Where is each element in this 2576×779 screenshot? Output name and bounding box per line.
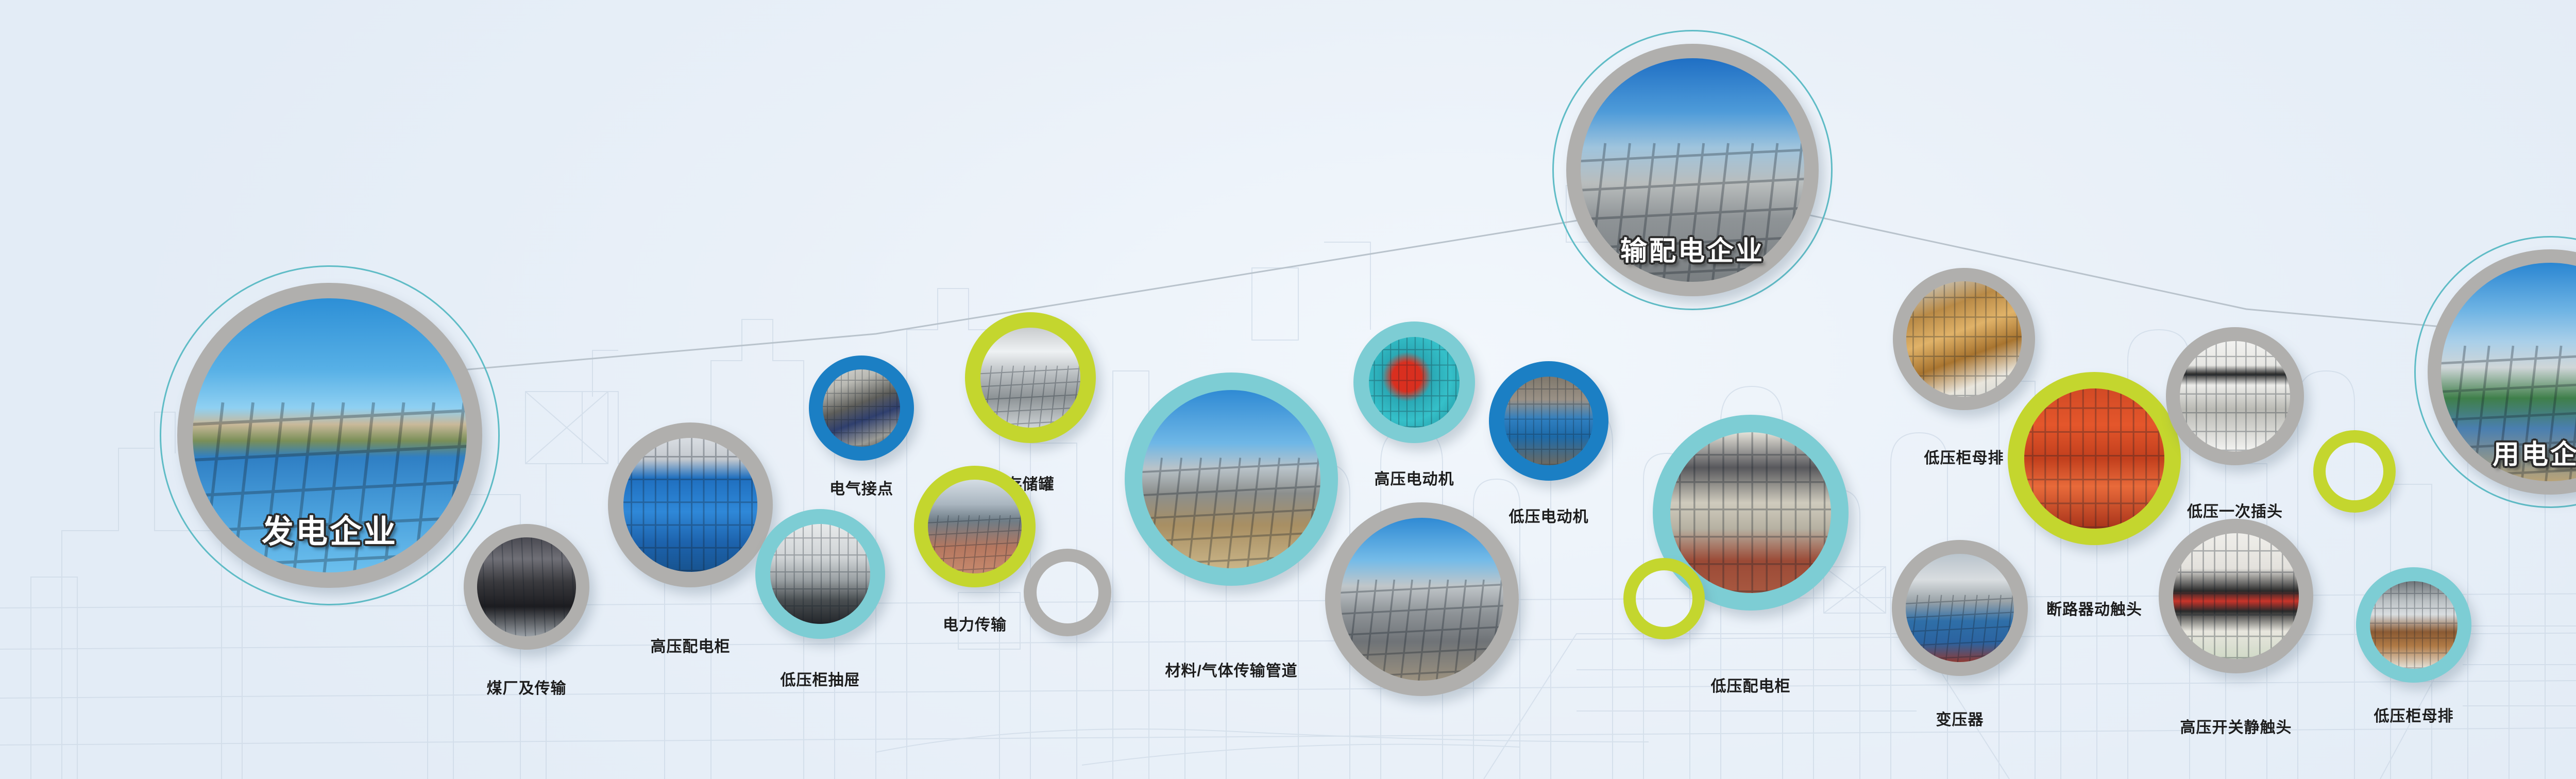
photo-fill-electrical-contact bbox=[823, 369, 900, 447]
photo-fill-power-transmission bbox=[928, 480, 1022, 573]
photo-lv-busbar-bottom bbox=[2370, 581, 2458, 669]
photo-disc-lv-cabinet-drawer[interactable] bbox=[755, 509, 885, 639]
photo-fill-lv-primary-plug bbox=[2180, 341, 2290, 451]
hero-label-power-generation: 发电企业 bbox=[262, 505, 398, 552]
photo-fill-hv-motor bbox=[1369, 337, 1460, 428]
label-hv-motor: 高压电动机 bbox=[1375, 466, 1454, 489]
label-coal-plant-transport: 煤厂及传输 bbox=[487, 675, 567, 698]
photo-material-gas-pipeline bbox=[1142, 390, 1320, 568]
label-hv-switch-static-contact: 高压开关静触头 bbox=[2180, 715, 2292, 737]
photo-disc-lv-primary-plug[interactable] bbox=[2166, 327, 2304, 465]
photo-fill-hv-switch-static-contact bbox=[2173, 533, 2299, 659]
photo-lv-primary-plug bbox=[2180, 341, 2290, 451]
photo-disc-chimney-plant[interactable] bbox=[1325, 502, 1519, 696]
label-lv-motor: 低压电动机 bbox=[1509, 504, 1589, 527]
decorative-ring-ring-empty-lime-2 bbox=[2313, 430, 2396, 513]
label-lv-busbar-top: 低压柜母排 bbox=[1924, 445, 2004, 468]
photo-power-transmission bbox=[928, 480, 1022, 573]
photo-disc-hv-distribution-cabinet[interactable] bbox=[608, 422, 773, 587]
photo-lv-motor bbox=[1504, 377, 1593, 465]
label-material-gas-pipeline: 材料/气体传输管道 bbox=[1165, 658, 1297, 681]
photo-lv-distribution-cabinet bbox=[1670, 432, 1831, 593]
photo-disc-coal-plant-transport[interactable] bbox=[464, 524, 589, 650]
photo-fill-lv-cabinet-drawer bbox=[770, 524, 870, 624]
photo-disc-lv-busbar-top[interactable] bbox=[1893, 268, 2035, 410]
label-transformer: 变压器 bbox=[1936, 707, 1984, 730]
photo-disc-transformer[interactable] bbox=[1892, 540, 2028, 676]
photo-coal-plant-transport bbox=[477, 537, 576, 636]
decorative-ring-ring-empty-gray-1 bbox=[1024, 549, 1111, 636]
label-lv-primary-plug: 低压一次插头 bbox=[2187, 499, 2283, 521]
photo-fill-storage-tank bbox=[980, 328, 1080, 428]
photo-fill-hv-distribution-cabinet bbox=[623, 438, 757, 572]
photo-lv-cabinet-drawer bbox=[770, 524, 870, 624]
photo-fill-coal-plant-transport bbox=[477, 537, 576, 636]
label-hv-distribution-cabinet: 高压配电柜 bbox=[651, 634, 731, 656]
label-lv-busbar-bottom: 低压柜母排 bbox=[2374, 703, 2454, 726]
photo-fill-chimney-plant bbox=[1341, 518, 1503, 681]
photo-storage-tank bbox=[980, 328, 1080, 428]
photo-lv-busbar-top bbox=[1906, 281, 2022, 397]
label-lv-distribution-cabinet: 低压配电柜 bbox=[1711, 673, 1791, 696]
hero-label-transmission-distribution: 输配电企业 bbox=[1620, 229, 1765, 268]
decorative-ring-ring-empty-lime-1 bbox=[1623, 558, 1705, 639]
photo-transformer bbox=[1906, 554, 2014, 662]
label-electrical-contact: 电气接点 bbox=[829, 476, 893, 499]
photo-fill-lv-motor bbox=[1504, 377, 1593, 465]
photo-disc-lv-busbar-bottom[interactable] bbox=[2356, 567, 2471, 683]
label-power-transmission: 电力传输 bbox=[943, 612, 1007, 635]
photo-fill-breaker-moving-contact bbox=[2024, 388, 2164, 529]
photo-disc-hv-switch-static-contact[interactable] bbox=[2159, 519, 2313, 673]
photo-fill-lv-busbar-bottom bbox=[2370, 581, 2458, 669]
photo-disc-material-gas-pipeline[interactable] bbox=[1125, 372, 1338, 586]
label-lv-cabinet-drawer: 低压柜抽屉 bbox=[781, 667, 860, 690]
hero-label-power-consumer: 用电企业 bbox=[2493, 433, 2576, 471]
photo-electrical-contact bbox=[823, 369, 900, 447]
photo-breaker-moving-contact bbox=[2024, 388, 2164, 529]
photo-hv-motor bbox=[1369, 337, 1460, 428]
photo-disc-electrical-contact[interactable] bbox=[809, 355, 914, 461]
photo-disc-power-transmission[interactable] bbox=[914, 466, 1036, 587]
photo-fill-lv-distribution-cabinet bbox=[1670, 432, 1831, 593]
photo-fill-lv-busbar-top bbox=[1906, 281, 2022, 397]
photo-hv-distribution-cabinet bbox=[623, 438, 757, 572]
photo-disc-breaker-moving-contact[interactable] bbox=[2008, 372, 2181, 545]
photo-fill-transformer bbox=[1906, 554, 2014, 662]
photo-disc-hv-motor[interactable] bbox=[1353, 321, 1475, 443]
photo-disc-storage-tank[interactable] bbox=[965, 312, 1096, 443]
label-breaker-moving-contact: 断路器动触头 bbox=[2046, 597, 2142, 619]
photo-hv-switch-static-contact bbox=[2173, 533, 2299, 659]
infographic-canvas: 发电企业煤厂及传输高压配电柜电气接点存储罐低压柜抽屉电力传输材料/气体传输管道高… bbox=[0, 0, 2576, 779]
photo-fill-material-gas-pipeline bbox=[1142, 390, 1320, 568]
photo-chimney-plant bbox=[1341, 518, 1503, 681]
photo-disc-lv-motor[interactable] bbox=[1489, 361, 1608, 481]
